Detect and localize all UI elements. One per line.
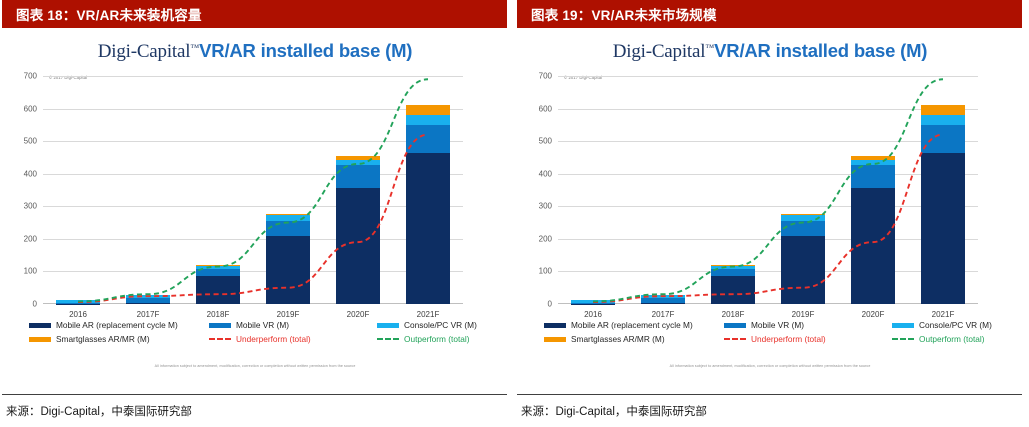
chart-legend: Mobile AR (replacement cycle M)Mobile VR… <box>29 320 495 344</box>
legend-swatch-icon <box>29 323 51 328</box>
y-axis-tick: 600 <box>24 104 37 113</box>
y-axis-tick: 100 <box>24 267 37 276</box>
legend-item[interactable]: Outperform (total) <box>892 334 1010 344</box>
trend-line <box>593 135 943 302</box>
legend-item[interactable]: Smartglasses AR/MR (M) <box>544 334 724 344</box>
y-axis-tick: 0 <box>33 300 37 309</box>
y-axis-tick: 600 <box>539 104 552 113</box>
chart-area-19: Digi-Capital™VR/AR installed base (M) © … <box>517 28 1022 394</box>
chart-disclaimer: All information subject to amendment, mo… <box>3 364 507 368</box>
legend-item[interactable]: Underperform (total) <box>209 334 377 344</box>
source-row-18: 来源：Digi-Capital，中泰国际研究部 <box>2 394 507 427</box>
panel-header-18: 图表 18：VR/AR未来装机容量 <box>2 0 507 28</box>
figure-panel-18: 图表 18：VR/AR未来装机容量 Digi-Capital™VR/AR ins… <box>2 0 507 426</box>
plot-area: © 2017 Digi-Capital 01002003004005006007… <box>43 76 463 304</box>
legend-dashed-line-icon <box>377 338 399 340</box>
chart-disclaimer: All information subject to amendment, mo… <box>518 364 1022 368</box>
legend-label: Mobile VR (M) <box>751 320 804 330</box>
y-axis-tick: 300 <box>24 202 37 211</box>
legend-item[interactable]: Smartglasses AR/MR (M) <box>29 334 209 344</box>
legend-label: Outperform (total) <box>404 334 469 344</box>
legend-item[interactable]: Mobile AR (replacement cycle M) <box>544 320 724 330</box>
legend-label: Outperform (total) <box>919 334 984 344</box>
trend-lines <box>558 76 978 304</box>
legend-item[interactable]: Mobile VR (M) <box>209 320 377 330</box>
legend-swatch-icon <box>209 323 231 328</box>
chart-title-brand: Digi-Capital <box>613 41 706 62</box>
chart-title-main: VR/AR installed base (M) <box>199 40 412 61</box>
legend-item[interactable]: Mobile VR (M) <box>724 320 892 330</box>
legend-item[interactable]: Console/PC VR (M) <box>377 320 495 330</box>
legend-dashed-line-icon <box>892 338 914 340</box>
y-axis-tick: 700 <box>24 72 37 81</box>
legend-label: Underperform (total) <box>236 334 311 344</box>
trend-lines <box>43 76 463 304</box>
source-row-19: 来源：Digi-Capital，中泰国际研究部 <box>517 394 1022 427</box>
legend-swatch-icon <box>892 323 914 328</box>
legend-label: Console/PC VR (M) <box>919 320 992 330</box>
legend-dashed-line-icon <box>209 338 231 340</box>
x-axis-tick: 2021F <box>378 310 478 319</box>
trademark-icon: ™ <box>705 43 714 53</box>
legend-label: Mobile VR (M) <box>236 320 289 330</box>
y-axis-tick: 700 <box>539 72 552 81</box>
legend-swatch-icon <box>377 323 399 328</box>
panel-header-title: 图表 18：VR/AR未来装机容量 <box>16 4 202 24</box>
plot-area: © 2017 Digi-Capital 01002003004005006007… <box>558 76 978 304</box>
chart-area-18: Digi-Capital™VR/AR installed base (M) © … <box>2 28 507 394</box>
legend-item[interactable]: Console/PC VR (M) <box>892 320 1010 330</box>
y-axis-tick: 100 <box>539 267 552 276</box>
chart-title: Digi-Capital™VR/AR installed base (M) <box>3 40 507 63</box>
trend-line <box>593 79 943 301</box>
legend-item[interactable]: Outperform (total) <box>377 334 495 344</box>
source-text: 来源：Digi-Capital，中泰国际研究部 <box>517 403 707 419</box>
legend-swatch-icon <box>544 323 566 328</box>
y-axis-tick: 500 <box>539 137 552 146</box>
trend-line <box>78 79 428 301</box>
legend-swatch-icon <box>724 323 746 328</box>
trademark-icon: ™ <box>190 43 199 53</box>
chart-title-brand: Digi-Capital <box>98 41 191 62</box>
figure-pair: 图表 18：VR/AR未来装机容量 Digi-Capital™VR/AR ins… <box>0 0 1029 426</box>
panel-header-title: 图表 19：VR/AR未来市场规模 <box>531 4 717 24</box>
legend-label: Mobile AR (replacement cycle M) <box>571 320 693 330</box>
y-axis-tick: 200 <box>24 234 37 243</box>
y-axis-tick: 400 <box>539 169 552 178</box>
y-axis-tick: 400 <box>24 169 37 178</box>
y-axis-tick: 300 <box>539 202 552 211</box>
legend-dashed-line-icon <box>724 338 746 340</box>
legend-label: Mobile AR (replacement cycle M) <box>56 320 178 330</box>
y-axis-tick: 500 <box>24 137 37 146</box>
legend-item[interactable]: Mobile AR (replacement cycle M) <box>29 320 209 330</box>
legend-swatch-icon <box>29 337 51 342</box>
x-axis-tick: 2021F <box>893 310 993 319</box>
legend-swatch-icon <box>544 337 566 342</box>
chart-legend: Mobile AR (replacement cycle M)Mobile VR… <box>544 320 1010 344</box>
source-text: 来源：Digi-Capital，中泰国际研究部 <box>2 403 192 419</box>
legend-label: Underperform (total) <box>751 334 826 344</box>
chart-title: Digi-Capital™VR/AR installed base (M) <box>518 40 1022 63</box>
panel-header-19: 图表 19：VR/AR未来市场规模 <box>517 0 1022 28</box>
chart-title-main: VR/AR installed base (M) <box>714 40 927 61</box>
legend-label: Console/PC VR (M) <box>404 320 477 330</box>
figure-panel-19: 图表 19：VR/AR未来市场规模 Digi-Capital™VR/AR ins… <box>517 0 1022 426</box>
legend-label: Smartglasses AR/MR (M) <box>571 334 665 344</box>
legend-item[interactable]: Underperform (total) <box>724 334 892 344</box>
legend-label: Smartglasses AR/MR (M) <box>56 334 150 344</box>
y-axis-tick: 0 <box>548 300 552 309</box>
y-axis-tick: 200 <box>539 234 552 243</box>
trend-line <box>78 135 428 302</box>
